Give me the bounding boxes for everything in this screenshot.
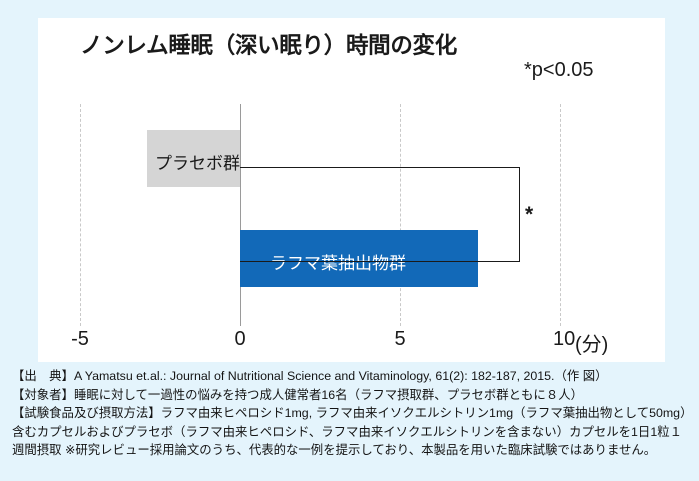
plot-area: プラセボ群 ラフマ葉抽出物群 * -5 0 5 10 (分) [38, 18, 665, 362]
significance-star: * [525, 204, 533, 225]
footnote-source: 【出 典】A Yamatsu et.al.: Journal of Nutrit… [12, 367, 690, 386]
gridline-10 [560, 104, 561, 326]
gridline-minus5 [80, 104, 81, 326]
significance-bracket [240, 167, 520, 262]
x-tick-10: 10 [553, 328, 575, 351]
footnote-method: 【試験食品及び摂取方法】ラフマ由来ヒペロシド1mg, ラフマ由来イソクエルシトリ… [12, 404, 690, 460]
x-tick-0: 0 [234, 328, 245, 351]
footnotes: 【出 典】A Yamatsu et.al.: Journal of Nutrit… [12, 367, 690, 460]
chart-panel: ノンレム睡眠（深い眠り）時間の変化 *p<0.05 プラセボ群 ラフマ葉抽出物群… [38, 18, 665, 362]
x-tick-5: 5 [394, 328, 405, 351]
footnote-subjects: 【対象者】睡眠に対して一過性の悩みを持つ成人健常者16名（ラフマ摂取群、プラセボ… [12, 386, 690, 405]
x-axis-unit-label: (分) [575, 328, 608, 357]
x-tick-minus5: -5 [71, 328, 89, 351]
screenshot-root: ノンレム睡眠（深い眠り）時間の変化 *p<0.05 プラセボ群 ラフマ葉抽出物群… [0, 0, 699, 481]
bar-label-placebo: プラセボ群 [147, 149, 240, 174]
